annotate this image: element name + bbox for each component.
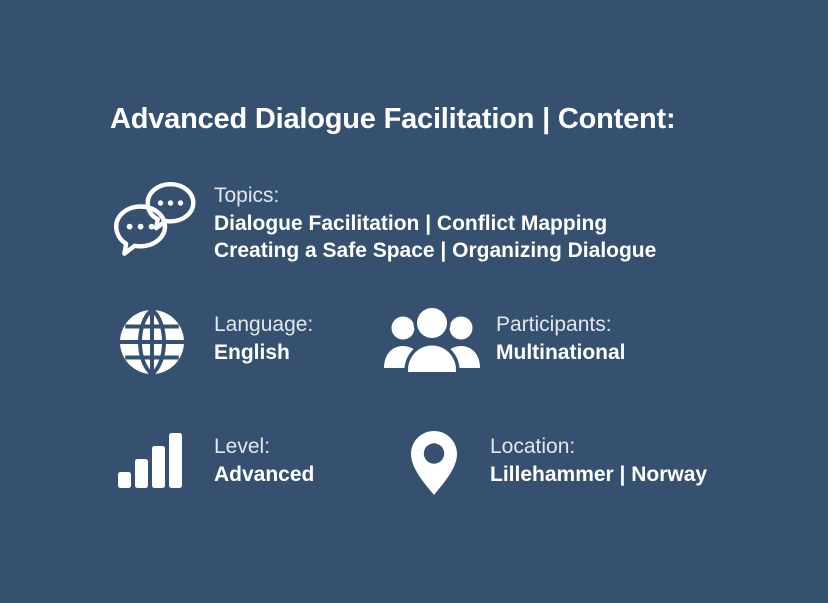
map-pin-icon: [406, 428, 462, 498]
info-row-location: Location: Lillehammer | Norway: [406, 428, 707, 498]
info-row-level: Level: Advanced: [112, 428, 314, 492]
location-text-block: Location: Lillehammer | Norway: [462, 428, 707, 488]
course-info-slide: Advanced Dialogue Facilitation | Content…: [0, 0, 828, 603]
globe-icon: [112, 306, 192, 378]
level-label: Level:: [214, 434, 314, 461]
level-value: Advanced: [214, 461, 314, 488]
language-label: Language:: [214, 312, 313, 339]
bar-chart-icon: [112, 428, 192, 492]
topics-label: Topics:: [214, 183, 656, 210]
language-text-block: Language: English: [192, 306, 313, 366]
participants-value: Multinational: [496, 339, 626, 366]
topics-value-line-2: Creating a Safe Space | Organizing Dialo…: [214, 237, 656, 264]
people-group-icon: [382, 306, 482, 374]
language-value: English: [214, 339, 313, 366]
speech-bubbles-icon: [112, 178, 200, 260]
page-title: Advanced Dialogue Facilitation | Content…: [110, 103, 675, 136]
topics-value-line-1: Dialogue Facilitation | Conflict Mapping: [214, 210, 656, 237]
participants-text-block: Participants: Multinational: [482, 306, 626, 366]
level-text-block: Level: Advanced: [192, 428, 314, 488]
topics-text-block: Topics: Dialogue Facilitation | Conflict…: [200, 178, 656, 264]
participants-label: Participants:: [496, 312, 626, 339]
location-label: Location:: [490, 434, 707, 461]
info-row-language: Language: English: [112, 306, 313, 378]
location-value: Lillehammer | Norway: [490, 461, 707, 488]
info-row-topics: Topics: Dialogue Facilitation | Conflict…: [112, 178, 656, 264]
info-row-participants: Participants: Multinational: [382, 306, 626, 374]
